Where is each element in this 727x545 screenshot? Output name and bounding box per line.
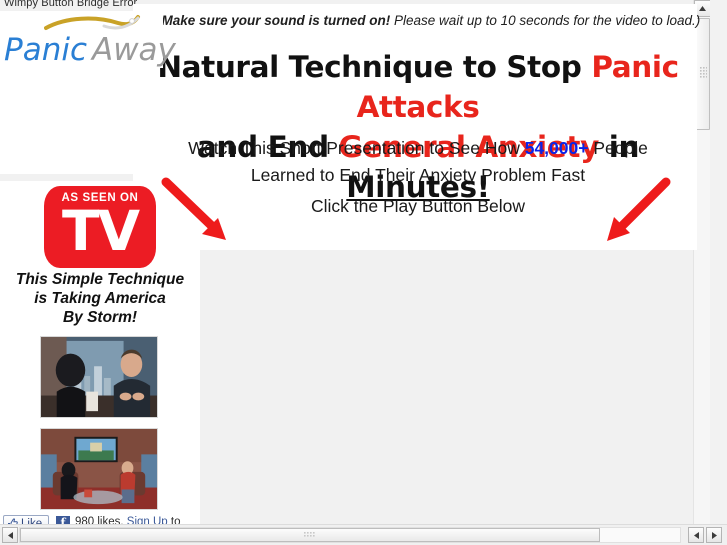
tv-caption: This Simple Technique is Taking America … [0, 270, 200, 327]
arrow-down-left-icon [600, 176, 678, 250]
facebook-like-button[interactable]: Like [3, 515, 49, 524]
vertical-scrollbar-thumb[interactable] [695, 18, 710, 130]
horizontal-scrollbar-thumb[interactable] [20, 528, 600, 542]
facebook-logo-icon: f [56, 516, 70, 524]
subhead-a: Watch This Short Presentation to See How [188, 138, 525, 158]
logo-wordmark: PanicAway [4, 34, 176, 67]
tv-badge: AS SEEN ON TV [44, 186, 156, 268]
triangle-up-icon [699, 6, 706, 11]
sound-notice: (Make sure your sound is turned on! Plea… [157, 13, 697, 28]
scroll-left-button[interactable] [2, 527, 18, 543]
subhead-c: People [588, 138, 647, 158]
horizontal-scrollbar-track[interactable] [19, 527, 681, 543]
arrow-down-right-icon [160, 176, 238, 250]
interview-photo-1 [41, 337, 157, 417]
scroll-right-button[interactable] [688, 527, 704, 543]
browser-viewport: Wimpy Button Bridge Error PanicAway (Mak… [0, 0, 727, 545]
facebook-likes-count: 980 likes. [75, 516, 127, 524]
window-error-title: Wimpy Button Bridge Error [4, 0, 137, 9]
tv-caption-line3: By Storm! [63, 309, 137, 326]
tv-caption-line2: is Taking America [34, 290, 166, 307]
facebook-like-bar: Like f 980 likes. Sign Up to [0, 513, 200, 524]
headline-line1-a: Natural Technique to Stop [157, 50, 591, 84]
interview-photo-2 [41, 429, 157, 509]
panic-away-logo[interactable]: PanicAway [0, 12, 163, 68]
thumbs-up-icon [7, 518, 18, 524]
sound-notice-rest: Please wait up to 10 seconds for the vid… [390, 13, 700, 28]
tv-badge-main-text: TV [44, 202, 156, 260]
page-canvas: Wimpy Button Bridge Error PanicAway (Mak… [0, 0, 710, 524]
facebook-likes-text: 980 likes. Sign Up to [75, 516, 181, 524]
scroll-right-button-2[interactable] [706, 527, 722, 543]
triangle-left-icon [694, 532, 699, 539]
scrollbar-grip-icon [304, 532, 316, 539]
sound-notice-bold: (Make sure your sound is turned on! [157, 13, 390, 28]
tv-caption-line1: This Simple Technique [16, 271, 184, 288]
triangle-left-icon [8, 532, 13, 539]
logo-word-panic: Panic [4, 32, 87, 68]
facebook-trailing-text: to [168, 516, 181, 524]
interview-thumbnail-2[interactable] [40, 428, 158, 510]
logo-word-away: Away [92, 32, 176, 68]
subhead-d: Learned to End Their Anxiety Problem Fas… [251, 165, 585, 185]
horizontal-scrollbar[interactable] [0, 524, 727, 545]
scrollbar-grip-icon [700, 67, 707, 79]
facebook-like-label: Like [21, 518, 42, 525]
interview-thumbnail-1[interactable] [40, 336, 158, 418]
subhead-count: 54,000+ [525, 138, 589, 158]
triangle-right-icon [712, 532, 717, 539]
facebook-signup-link[interactable]: Sign Up [127, 516, 168, 524]
